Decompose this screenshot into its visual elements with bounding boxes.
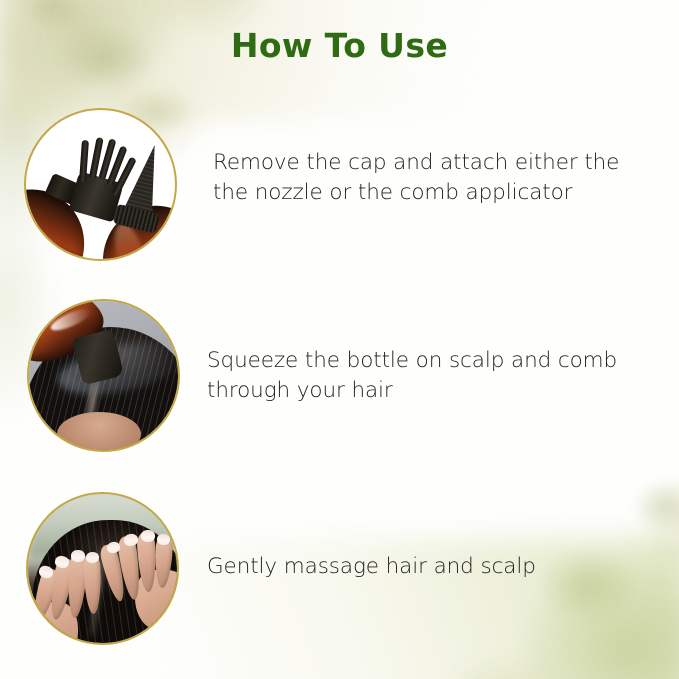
hands-massaging-scalp-image <box>28 494 177 643</box>
step-1-text: Remove the cap and attach either the the… <box>213 148 633 208</box>
right-hand <box>97 512 177 624</box>
left-fingernail <box>71 550 85 562</box>
page-title: How To Use <box>0 26 679 65</box>
step-3-image-clip <box>28 494 177 643</box>
step-2-text: Squeeze the bottle on scalp and comb thr… <box>207 346 632 406</box>
watercolor-wash-bottom-right <box>329 389 679 679</box>
step-3-thumbnail <box>26 492 179 645</box>
step-2-image-clip <box>29 301 178 450</box>
step-1-image-clip <box>26 110 175 259</box>
step-2-thumbnail <box>27 299 180 452</box>
bottle-applied-to-scalp-image <box>29 301 178 450</box>
right-fingernail <box>141 530 155 542</box>
step-3-text: Gently massage hair and scalp <box>207 552 627 582</box>
how-to-use-infographic: How To Use <box>0 0 679 679</box>
bottles-with-comb-and-nozzle-applicators-image <box>26 110 175 259</box>
forehead-skin <box>57 412 141 450</box>
step-1-thumbnail <box>24 108 177 261</box>
